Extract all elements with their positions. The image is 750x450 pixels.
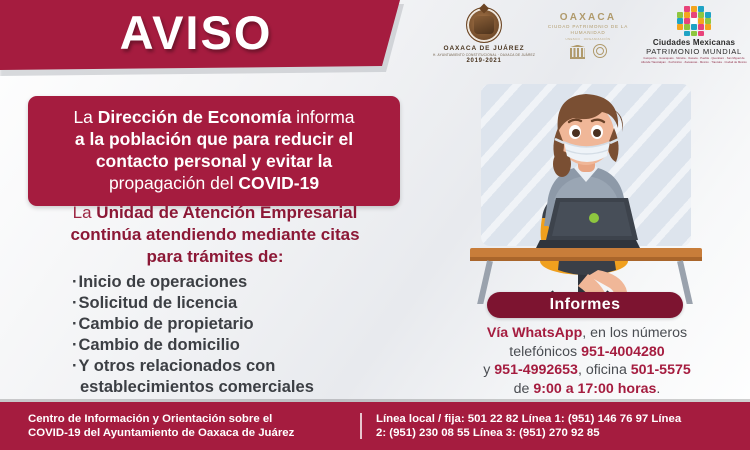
list-item: Y otros relacionados con: [72, 356, 412, 377]
logo-oaxaca-de-juarez: OAXACA DE JUÁREZ H. AYUNTAMIENTO CONSTIT…: [432, 7, 536, 64]
office-number: 501-5575: [631, 362, 691, 378]
notice-line4-bold: COVID-19: [238, 173, 319, 193]
notice-line-2: a la población que para reducir el: [42, 128, 386, 150]
footer-center-info: Centro de Información y Orientación sobr…: [0, 412, 360, 440]
logo-row: OAXACA DE JUÁREZ H. AYUNTAMIENTO CONSTIT…: [432, 4, 748, 66]
informes-line-4: de 9:00 a 17:00 horas.: [444, 380, 730, 399]
greek-temple-icon: [569, 45, 586, 58]
unesco-icon-group: [569, 44, 607, 58]
list-item: Solicitud de licencia: [72, 293, 412, 314]
informes-line3-pre: y: [483, 362, 494, 378]
list-item-continuation: establecimientos comerciales: [72, 377, 412, 398]
logo-oaxaca-years: 2019-2021: [467, 58, 502, 64]
notice-box: La Dirección de Economía informa a la po…: [28, 96, 400, 206]
footer-phone-lines: Línea local / fija: 501 22 82 Línea 1: (…: [362, 412, 750, 440]
informes-line4-pre: de: [514, 381, 534, 397]
phone-number-1: 951-4004280: [581, 344, 665, 360]
notice-line-4: propagación del COVID-19: [42, 172, 386, 194]
whatsapp-label: Vía WhatsApp: [487, 325, 582, 341]
logo-unesco-line3: UNESCO · ORGANIZACIÓN: [566, 37, 611, 41]
subhead-line1-bold: Unidad de Atención Empresarial: [96, 203, 357, 222]
logo-unesco-subtitle: CIUDAD PATRIMONIO DE LA HUMANIDAD: [542, 24, 634, 36]
informes-line1-rest: , en los números: [582, 325, 687, 341]
logo-ciudades-mexicanas: Ciudades Mexicanas PATRIMONIO MUNDIAL Ca…: [640, 6, 748, 64]
woman-with-facemask-at-laptop-illustration: [470, 78, 702, 304]
world-heritage-circle-icon: [593, 44, 607, 58]
informes-line3-mid: , oficina: [578, 362, 631, 378]
list-item: Cambio de propietario: [72, 314, 412, 335]
informes-contact-text: Vía WhatsApp, en los números telefónicos…: [444, 324, 730, 398]
logo-ciudades-subtitle: PATRIMONIO MUNDIAL: [646, 47, 742, 56]
logo-oaxaca-subtitle: H. AYUNTAMIENTO CONSTITUCIONAL · OAXACA …: [433, 53, 535, 57]
subheading-block: La Unidad de Atención Empresarial contin…: [20, 202, 410, 268]
list-item: Cambio de domicilio: [72, 335, 412, 356]
footer-left-line-2: COVID-19 del Ayuntamiento de Oaxaca de J…: [28, 426, 360, 440]
informes-line-2: telefónicos 951-4004280: [444, 343, 730, 362]
footer-right-line-2: 2: (951) 230 08 55 Línea 3: (951) 270 92…: [376, 426, 742, 440]
informes-line-3: y 951-4992653, oficina 501-5575: [444, 361, 730, 380]
notice-line1-post: informa: [291, 107, 354, 127]
logo-oaxaca-title: OAXACA DE JUÁREZ: [444, 45, 525, 52]
logo-unesco-title: OAXACA: [560, 12, 617, 23]
notice-line1-pre: La: [73, 107, 97, 127]
informes-line4-post: .: [656, 381, 660, 397]
phone-number-2: 951-4992653: [494, 362, 578, 378]
notice-line-1: La Dirección de Economía informa: [42, 106, 386, 128]
notice-line4-pre: propagación del: [109, 173, 238, 193]
subhead-line-2: continúa atendiendo mediante citas: [20, 224, 410, 246]
subhead-line-1: La Unidad de Atención Empresarial: [20, 202, 410, 224]
subhead-line1-pre: La: [73, 203, 97, 222]
logo-ciudades-citylist: Campeche · Guanajuato · Morelia · Oaxaca…: [640, 57, 748, 64]
service-hours: 9:00 a 17:00 horas: [533, 381, 656, 397]
poster-canvas: AVISO OAXACA DE JUÁREZ H. AYUNTAMIENTO C…: [0, 0, 750, 450]
page-title: AVISO: [0, 5, 392, 61]
footer-right-line-1: Línea local / fija: 501 22 82 Línea 1: (…: [376, 412, 742, 426]
informes-badge: Informes: [487, 292, 683, 318]
notice-line-3: contacto personal y evitar la: [42, 150, 386, 172]
list-item: Inicio de operaciones: [72, 272, 412, 293]
footer-bar: Centro de Información y Orientación sobr…: [0, 402, 750, 450]
informes-line2-pre: telefónicos: [509, 344, 581, 360]
logo-unesco-heritage: OAXACA CIUDAD PATRIMONIO DE LA HUMANIDAD…: [542, 12, 634, 59]
mosaic-icon: [677, 6, 711, 36]
notice-line1-bold: Dirección de Economía: [98, 107, 292, 127]
subhead-line-3: para trámites de:: [20, 246, 410, 268]
procedures-list: Inicio de operaciones Solicitud de licen…: [72, 272, 412, 398]
logo-ciudades-title: Ciudades Mexicanas: [653, 38, 735, 47]
informes-line-1: Vía WhatsApp, en los números: [444, 324, 730, 343]
oaxaca-seal-icon: [466, 7, 502, 43]
footer-left-line-1: Centro de Información y Orientación sobr…: [28, 412, 360, 426]
